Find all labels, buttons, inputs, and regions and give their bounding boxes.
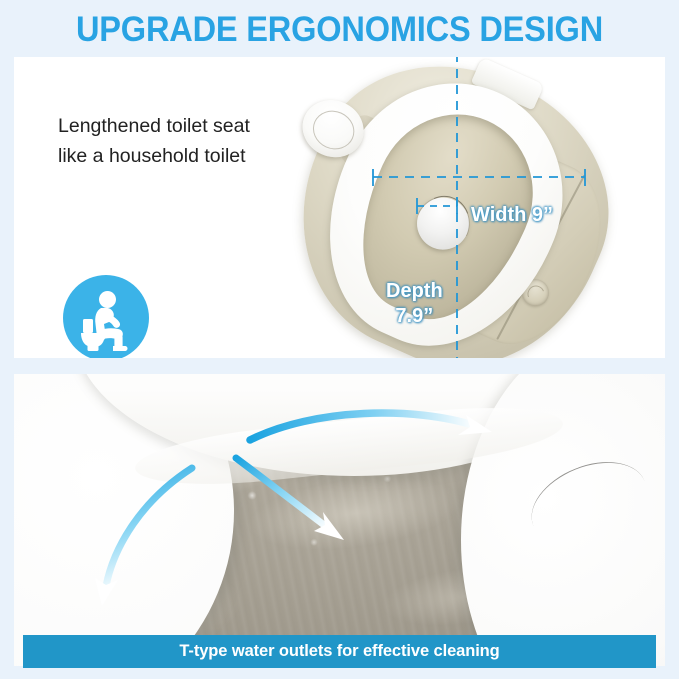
dimension-lines	[255, 57, 665, 358]
water-flow-arrows	[14, 374, 665, 666]
flow-arrow-middle-right	[236, 458, 344, 540]
caption-text: T-type water outlets for effective clean…	[179, 642, 499, 661]
flow-arrow-top-right	[250, 413, 492, 440]
dimension-label-depth: Depth 7.9”	[386, 279, 443, 329]
caption-bar: T-type water outlets for effective clean…	[23, 635, 656, 668]
ergonomics-card: Lengthened toilet seat like a household …	[14, 57, 665, 358]
flow-arrow-left-down	[95, 468, 192, 606]
bidet-toilet-seat-top-view	[255, 57, 665, 358]
dimension-label-depth-name: Depth	[386, 279, 443, 304]
dimension-label-depth-value: 7.9”	[386, 304, 443, 329]
cleaning-demo-panel	[14, 374, 665, 666]
page-title: UPGRADE ERGONOMICS DESIGN	[24, 8, 655, 52]
person-sitting-on-toilet-icon	[63, 275, 149, 358]
dimension-label-width: Width 9”	[471, 204, 553, 227]
